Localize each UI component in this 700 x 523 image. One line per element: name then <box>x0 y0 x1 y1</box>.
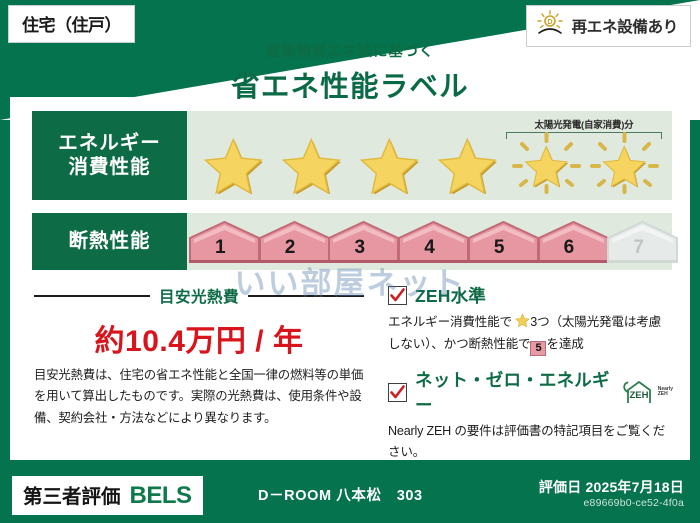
zeh-standard-checkbox[interactable] <box>388 286 407 305</box>
zeh-standard-body: エネルギー消費性能で 3つ（太陽光発電は考慮しない）、かつ断熱性能で5を達成 <box>388 312 673 356</box>
check-icon <box>390 288 405 303</box>
net-zero-energy-checkbox[interactable] <box>388 383 407 402</box>
insulation-performance-label: 断熱性能 <box>32 213 187 270</box>
house-list: 1234567 <box>187 213 672 270</box>
inline-star-icon <box>515 313 530 334</box>
star-filled <box>198 132 271 194</box>
insulation-house-filled: 2 <box>257 220 324 264</box>
net-zero-energy-body: Nearly ZEH の要件は評価書の特記項目をご覧ください。 <box>388 421 673 462</box>
insulation-house-filled: 4 <box>396 220 463 264</box>
zeh-logo-sub2: ZEH <box>658 391 668 397</box>
utility-cost-note: 目安光熱費は、住宅の省エネ性能と全国一律の燃料等の単価を用いて算出したものです。… <box>34 365 372 429</box>
energy-star-rating: 太陽光発電(自家消費)分 <box>187 111 672 200</box>
evaluation-id: e89669b0-ce52-4f0a <box>583 497 684 509</box>
insulation-house-empty: 7 <box>605 220 672 264</box>
insulation-level-number: 5 <box>494 237 505 264</box>
insulation-house-filled: 3 <box>326 220 393 264</box>
criteria-column: ZEH水準 エネルギー消費性能で 3つ（太陽光発電は考慮しない）、かつ断熱性能で… <box>388 283 673 473</box>
zeh-standard-title: ZEH水準 <box>415 283 486 308</box>
insulation-label-text: 断熱性能 <box>68 230 150 254</box>
insulation-level-scale: 1234567 <box>187 213 672 270</box>
utility-cost-block: 目安光熱費 約10.4万円 / 年 <box>34 285 364 360</box>
svg-text:ZEH: ZEH <box>629 390 648 401</box>
label-footer: 第三者評価 BELS D－ROOM 八本松 303 評価日 2025年7月18日… <box>0 468 700 523</box>
insulation-level-badge: 5 <box>530 341 546 356</box>
criterion-net-zero-energy: ネット・ゼロ・エネルギー ZEH Nearly ZEH Nearly ZE <box>388 367 673 462</box>
check-icon <box>390 385 405 400</box>
zeh-body-post: を達成 <box>546 337 583 351</box>
label-content-card: エネルギー 消費性能 太陽光発電(自家消費)分 断熱性能 1234567 <box>10 97 690 460</box>
bels-certification-badge: 第三者評価 BELS <box>12 476 203 515</box>
net-zero-energy-title: ネット・ゼロ・エネルギー <box>415 367 611 417</box>
utility-cost-heading: 目安光熱費 <box>34 285 364 307</box>
star-filled <box>276 132 349 194</box>
insulation-level-number: 4 <box>424 237 435 264</box>
insulation-level-number: 2 <box>285 237 296 264</box>
energy-performance-label: エネルギー 消費性能 <box>32 111 187 200</box>
star-list <box>187 132 672 194</box>
renewable-equipment-badge: D 再エネ設備あり <box>526 5 691 47</box>
evaluation-date: 評価日 2025年7月18日 <box>539 477 684 497</box>
zeh-logo-subtext: Nearly ZEH <box>658 387 673 398</box>
zeh-logo-icon: ZEH Nearly ZEH <box>622 379 673 405</box>
star-filled <box>432 132 505 194</box>
criterion-zeh-standard-header: ZEH水準 <box>388 283 673 308</box>
criterion-zeh-standard: ZEH水準 エネルギー消費性能で 3つ（太陽光発電は考慮しない）、かつ断熱性能で… <box>388 283 673 356</box>
sun-renewable-icon: D <box>535 10 565 41</box>
label-title: 省エネ性能ラベル <box>0 64 700 105</box>
insulation-house-filled: 6 <box>536 220 603 264</box>
svg-text:D: D <box>547 19 552 26</box>
star-solar <box>588 132 661 194</box>
heading-rule-left <box>34 295 150 297</box>
energy-performance-row: エネルギー 消費性能 太陽光発電(自家消費)分 <box>32 111 672 200</box>
housing-type-badge: 住宅（住戸） <box>8 5 135 43</box>
insulation-house-filled: 1 <box>187 220 254 264</box>
insulation-level-number: 6 <box>564 237 575 264</box>
insulation-house-filled: 5 <box>466 220 533 264</box>
heading-rule-right <box>248 295 364 297</box>
insulation-level-number: 1 <box>215 237 226 264</box>
insulation-level-number: 3 <box>354 237 365 264</box>
solar-bracket-label: 太陽光発電(自家消費)分 <box>506 117 662 131</box>
utility-cost-heading-text: 目安光熱費 <box>159 285 239 307</box>
star-filled <box>354 132 427 194</box>
energy-label-line1: エネルギー <box>58 132 161 156</box>
bels-energy-label: 住宅（住戸） D 再エネ設備あり 建築物省エネ法に基づ <box>0 0 700 523</box>
renewable-equipment-label: 再エネ設備あり <box>572 15 678 37</box>
utility-cost-amount: 約10.4万円 / 年 <box>34 316 364 360</box>
housing-type-label: 住宅（住戸） <box>22 16 121 35</box>
energy-label-line2: 消費性能 <box>68 156 150 180</box>
criterion-net-zero-energy-header: ネット・ゼロ・エネルギー ZEH Nearly ZEH <box>388 367 673 417</box>
bels-en-label: BELS <box>130 482 192 510</box>
zeh-body-pre: エネルギー消費性能で <box>388 315 512 329</box>
building-name: D－ROOM 八本松 303 <box>258 484 423 505</box>
insulation-performance-row: 断熱性能 1234567 <box>32 213 672 270</box>
label-title-block: 建築物省エネ法に基づく 省エネ性能ラベル <box>0 40 700 105</box>
bels-jp-label: 第三者評価 <box>23 480 121 509</box>
star-solar <box>510 132 583 194</box>
insulation-level-number: 7 <box>633 237 644 264</box>
